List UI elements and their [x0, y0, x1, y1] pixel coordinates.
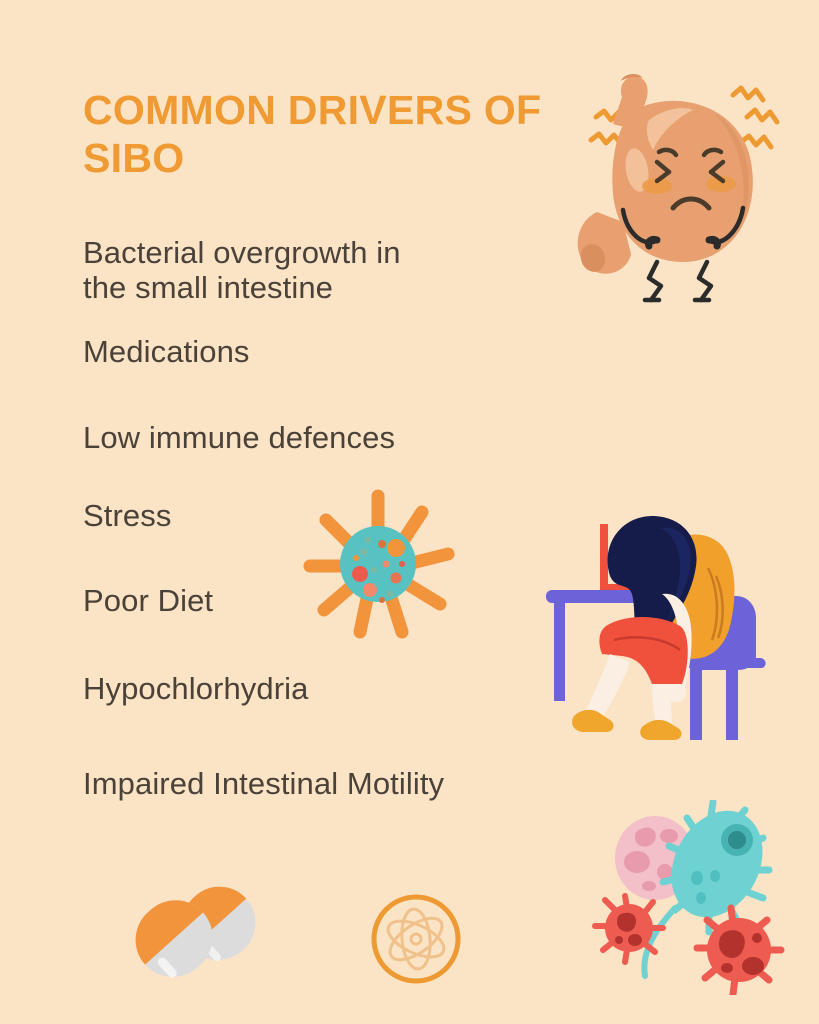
capsule-pills-icon	[96, 858, 286, 998]
driver-item-3: Stress	[83, 498, 171, 533]
infographic-canvas: COMMON DRIVERS OF SIBO Bacterial overgro…	[0, 0, 819, 1024]
driver-item-2: Low immune defences	[83, 420, 395, 455]
driver-item-0: Bacterial overgrowth in the small intest…	[83, 235, 401, 305]
page-title: COMMON DRIVERS OF SIBO	[83, 86, 563, 183]
sad-stomach-icon	[565, 62, 810, 307]
driver-item-5: Hypochlorhydria	[83, 671, 309, 706]
atom-emblem-icon	[363, 886, 469, 992]
virus-icon	[298, 482, 458, 642]
driver-item-4: Poor Diet	[83, 583, 213, 618]
driver-item-6: Impaired Intestinal Motility	[83, 766, 444, 801]
bacteria-cluster-icon	[583, 800, 803, 995]
driver-item-1: Medications	[83, 334, 250, 369]
tired-woman-icon	[540, 498, 775, 743]
